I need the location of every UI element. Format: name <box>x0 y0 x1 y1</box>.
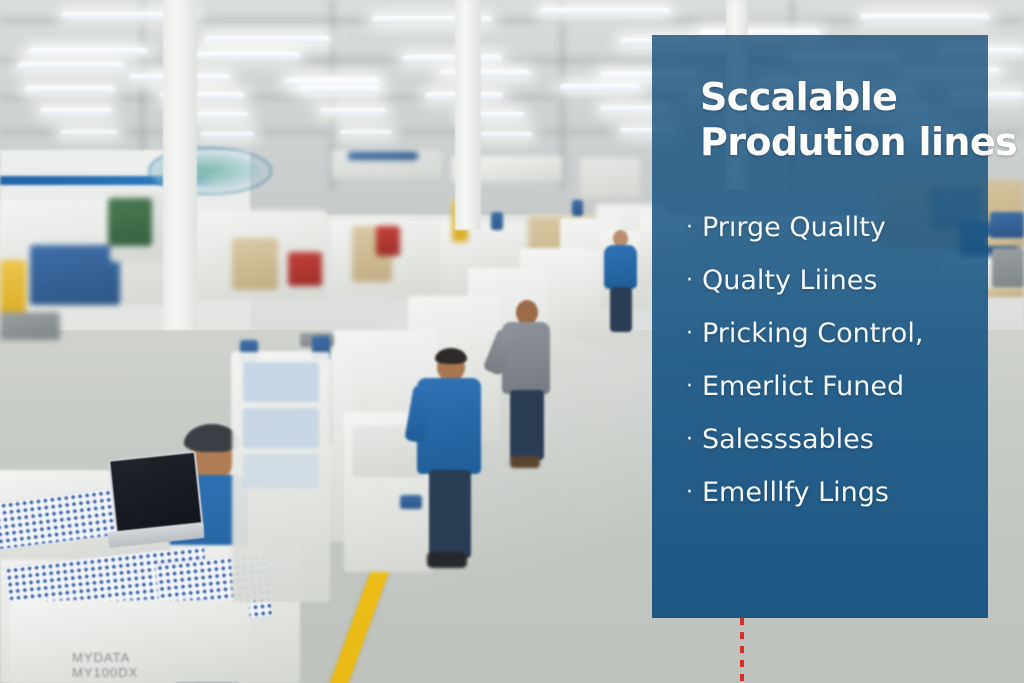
support-column-left <box>163 0 197 330</box>
bullet-icon: · <box>686 268 693 293</box>
list-item: ·Pricking Control, <box>686 319 1016 349</box>
support-column-mid <box>455 0 481 230</box>
factory-promo-image: MYDATA MY100DX Sccalable Prodution lines… <box>0 0 1024 683</box>
bullet-icon: · <box>686 321 693 346</box>
list-item-label: Qualty Liines <box>702 265 877 296</box>
list-item: ·Salesssables <box>686 425 1016 455</box>
list-item-label: Prırge Quallty <box>702 212 886 243</box>
feature-overlay-panel: Sccalable Prodution lines ·Prırge Quallt… <box>652 35 988 618</box>
bullet-icon: · <box>686 480 693 505</box>
title-line-1: Sccalable <box>700 75 1024 120</box>
worker-far <box>600 230 640 330</box>
worker-blue-shirt-mid <box>415 352 485 570</box>
list-item-label: Salesssables <box>702 424 874 455</box>
feature-list: ·Prırge Quallty ·Qualty Liines ·Pricking… <box>686 213 1016 531</box>
list-item: ·Prırge Quallty <box>686 213 1016 243</box>
machine-label: MYDATA MY100DX <box>72 650 138 680</box>
bullet-icon: · <box>686 215 693 240</box>
list-item: ·Qualty Liines <box>686 266 1016 296</box>
list-item: ·Emerlict Funed <box>686 372 1016 402</box>
title-line-2: Prodution lines <box>700 120 1024 165</box>
list-item: ·Emelllfy Lings <box>686 478 1016 508</box>
list-item-label: Pricking Control, <box>702 318 923 349</box>
bullet-icon: · <box>686 374 693 399</box>
bullet-icon: · <box>686 427 693 452</box>
red-dashed-guide-line <box>740 618 744 683</box>
page-title: Sccalable Prodution lines <box>700 75 1024 165</box>
list-item-label: Emerlict Funed <box>702 371 904 402</box>
worker-grey-shirt <box>498 300 554 468</box>
list-item-label: Emelllfy Lings <box>702 477 889 508</box>
